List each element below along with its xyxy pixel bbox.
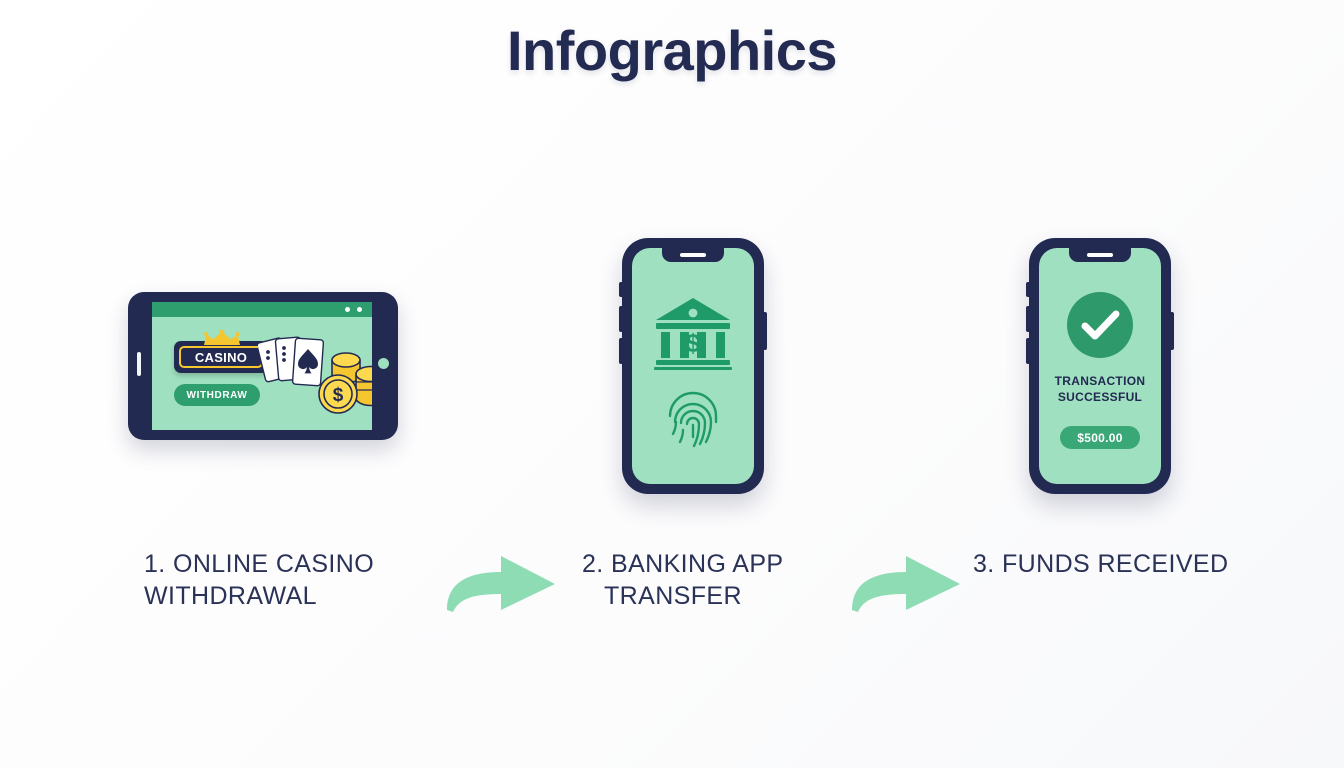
phone-volume-down-button[interactable] — [619, 338, 622, 364]
phone-screen-confirmation: TRANSACTION SUCCESSFUL $500.00 — [1039, 248, 1161, 484]
phone-screen-banking: $ — [632, 248, 754, 484]
fingerprint-icon — [666, 390, 720, 448]
phone-volume-down-button[interactable] — [1026, 338, 1029, 364]
withdraw-button[interactable]: WITHDRAW — [174, 384, 260, 406]
casino-badge-label: CASINO — [195, 350, 247, 365]
phone-device-confirmation: TRANSACTION SUCCESSFUL $500.00 — [1029, 238, 1171, 494]
tablet-camera-icon — [137, 352, 141, 376]
step-caption-line-2: WITHDRAWAL — [144, 580, 444, 612]
tablet-home-button[interactable] — [378, 358, 389, 369]
crown-icon — [202, 330, 242, 346]
step-funds-received: TRANSACTION SUCCESSFUL $500.00 3. FUNDS … — [945, 200, 1275, 660]
phone-power-button[interactable] — [1171, 312, 1174, 350]
step-caption: 2. BANKING APP TRANSFER — [582, 548, 882, 612]
browser-dot-icon — [345, 307, 350, 312]
step-online-casino-withdrawal: CASINO WITHDRAW — [96, 200, 426, 660]
svg-text:$: $ — [333, 385, 344, 406]
coin-stack-icon: $ — [312, 346, 372, 418]
tablet-screen: CASINO WITHDRAW — [152, 302, 372, 430]
status-line-2: SUCCESSFUL — [1039, 390, 1161, 406]
phone-speaker-icon — [680, 253, 706, 257]
tablet-device-area: CASINO WITHDRAW — [96, 200, 426, 510]
tablet-device: CASINO WITHDRAW — [128, 292, 398, 440]
bank-building-icon: $ — [654, 296, 732, 370]
check-icon — [1067, 292, 1133, 358]
phone-silent-switch[interactable] — [619, 282, 622, 297]
step-caption-line-1: 3. FUNDS RECEIVED — [973, 548, 1293, 580]
casino-brand-badge: CASINO — [174, 341, 268, 373]
phone-notch — [1069, 248, 1131, 262]
step-banking-app-transfer: $ — [530, 200, 860, 660]
step-caption-line-2: TRANSFER — [582, 580, 882, 612]
page-title: Infographics — [0, 18, 1344, 83]
phone-power-button[interactable] — [764, 312, 767, 350]
phone-silent-switch[interactable] — [1026, 282, 1029, 297]
browser-bar — [152, 302, 372, 317]
phone-device-area: TRANSACTION SUCCESSFUL $500.00 — [945, 200, 1275, 510]
step-caption-line-1: 1. ONLINE CASINO — [144, 548, 444, 580]
success-check-circle — [1067, 292, 1133, 358]
withdraw-button-label: WITHDRAW — [187, 390, 248, 401]
status-line-1: TRANSACTION — [1039, 374, 1161, 390]
phone-speaker-icon — [1087, 253, 1113, 257]
phone-volume-up-button[interactable] — [619, 306, 622, 332]
amount-badge-label: $500.00 — [1077, 431, 1122, 445]
casino-badge-inner: CASINO — [179, 346, 263, 368]
step-caption-line-1: 2. BANKING APP — [582, 548, 882, 580]
transaction-status-text: TRANSACTION SUCCESSFUL — [1039, 374, 1161, 405]
browser-dot-icon — [357, 307, 362, 312]
infographic-stage: CASINO WITHDRAW — [0, 200, 1344, 660]
phone-notch — [662, 248, 724, 262]
step-caption: 1. ONLINE CASINO WITHDRAWAL — [144, 548, 444, 612]
bank-currency-symbol: $ — [686, 328, 701, 358]
step-caption: 3. FUNDS RECEIVED — [973, 548, 1293, 580]
amount-badge: $500.00 — [1060, 426, 1140, 449]
phone-device-banking: $ — [622, 238, 764, 494]
phone-device-area: $ — [530, 200, 860, 510]
phone-volume-up-button[interactable] — [1026, 306, 1029, 332]
